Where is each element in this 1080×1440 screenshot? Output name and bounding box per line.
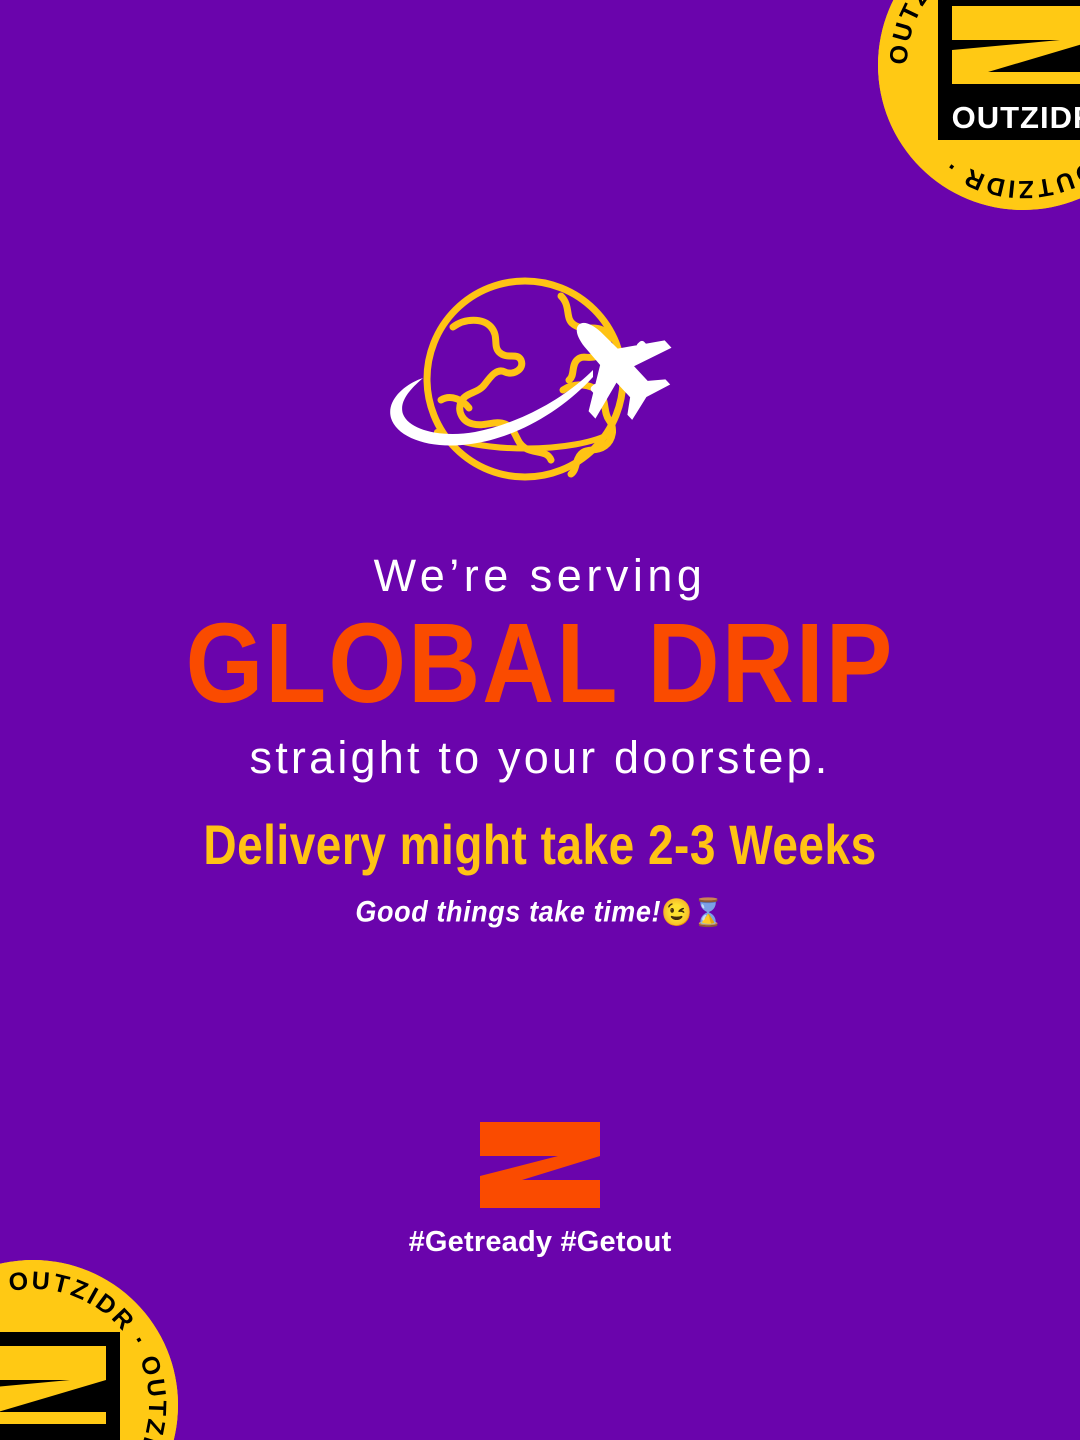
delivery-headline: Delivery might take 2-3 Weeks <box>0 815 1080 876</box>
badge-wordmark: OUTZIDR <box>952 100 1080 135</box>
outzidr-badge-bottom-left: OUTZIDR · OUTZIDR · OUTZIDR · OUTZIDR · … <box>0 1260 178 1440</box>
outzidr-badge-top-right: OUTZIDR · OUTZIDR · OUTZIDR · OUTZIDR · … <box>878 0 1080 210</box>
globe-airplane-emblem <box>365 272 715 504</box>
delivery-block: Delivery might take 2-3 Weeks Good thing… <box>0 820 1080 928</box>
headline-block: We’re serving GLOBAL DRIP straight to yo… <box>0 552 1080 782</box>
headline-line-serving: We’re serving <box>0 552 1080 599</box>
orbit-swoosh-icon <box>390 370 593 446</box>
badge-z-logo-icon: OUTZIDR <box>0 1332 120 1440</box>
hourglass-icon: ⌛ <box>693 898 725 928</box>
headline-line-doorstep: straight to your doorstep. <box>0 734 1080 781</box>
footer-hashtags: #Getready #Getout <box>0 1226 1080 1259</box>
headline-global-drip: GLOBAL DRIP <box>0 595 1080 733</box>
delivery-subtext-row: Good things take time!😉⌛ <box>0 895 1080 928</box>
delivery-subtext: Good things take time! <box>355 895 661 927</box>
globe-icon <box>427 281 623 477</box>
footer-block: #Getready #Getout <box>0 1120 1080 1259</box>
poster-canvas: OUTZIDR · OUTZIDR · OUTZIDR · OUTZIDR · … <box>0 0 1080 1440</box>
wink-face-icon: 😉 <box>661 898 693 928</box>
z-logo-icon <box>478 1120 602 1210</box>
badge-z-logo-icon: OUTZIDR <box>938 0 1080 140</box>
